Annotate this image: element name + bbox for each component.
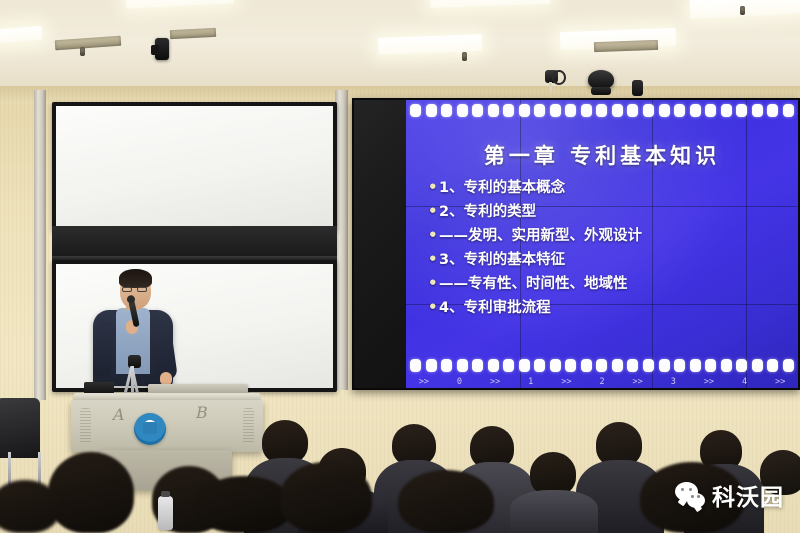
podium-grille-left (80, 408, 91, 444)
sprocket-hole (659, 104, 670, 117)
chair (0, 398, 40, 458)
ceiling-light-panel (378, 34, 483, 55)
slide-bullet-text: 2、专利的类型 (439, 205, 536, 220)
slide-bullet-list: • 1、专利的基本概念 • 2、专利的类型 • ——发明、实用新型、外观设计 •… (428, 180, 790, 324)
slide-bullet-text: 1、专利的基本概念 (439, 181, 565, 196)
speaker-glasses-icon (122, 287, 147, 292)
wall-speaker-icon (632, 80, 643, 96)
sprocket-hole (674, 104, 685, 117)
presentation-slide[interactable]: 第一章 专利基本知识 • 1、专利的基本概念 • 2、专利的类型 • ——发明、… (406, 100, 798, 388)
sprocket-hole (581, 359, 592, 372)
slide-bullet: • 4、专利审批流程 (428, 300, 790, 316)
sprocket-hole (550, 104, 561, 117)
footer-mark: 0 (442, 377, 478, 387)
sprocket-hole (534, 104, 545, 117)
sprocket-hole (410, 104, 421, 117)
ceiling-sprinkler (80, 47, 85, 56)
sprocket-hole (581, 104, 592, 117)
ceiling-light-panel (430, 0, 551, 8)
slide-bullet-text: 3、专利的基本特征 (439, 253, 565, 268)
slide-bullet: • ——发明、实用新型、外观设计 (428, 228, 790, 244)
speaker-hair (119, 269, 152, 288)
sprocket-hole (596, 104, 607, 117)
whiteboard-surface-upper (56, 106, 333, 226)
ceiling-light-panel (126, 0, 235, 9)
podium-grille-right (243, 408, 254, 444)
sprocket-hole (441, 359, 452, 372)
sprocket-hole (426, 359, 437, 372)
slide-bullet-text: ——发明、实用新型、外观设计 (439, 229, 642, 244)
ceiling-vent (55, 36, 122, 51)
slide-bullet: • 1、专利的基本概念 (428, 180, 790, 196)
footer-mark: 3 (655, 377, 691, 387)
sprocket-hole (767, 104, 778, 117)
bullet-marker: • (428, 252, 439, 267)
filmstrip-sprockets-bottom (406, 357, 798, 373)
wechat-logo-icon (675, 482, 705, 508)
audience-head-foreground (280, 462, 372, 533)
sprocket-hole (752, 104, 763, 117)
slide-title: 第一章 专利基本知识 (406, 140, 798, 170)
sprocket-hole (690, 104, 701, 117)
footer-mark: >> (406, 377, 442, 387)
audience-head-foreground (0, 480, 60, 533)
podium-label-a: A (113, 405, 125, 424)
filmstrip-footer: >> 0 >> 1 >> 2 >> 3 >> 4 >> (406, 375, 798, 388)
sprocket-hole (627, 359, 638, 372)
watermark: 科沃园 (675, 478, 784, 512)
slide-bullet: • 2、专利的类型 (428, 204, 790, 220)
slide-bullet-text: 4、专利审批流程 (439, 301, 551, 316)
bullet-marker: • (428, 228, 439, 243)
sprocket-hole (426, 104, 437, 117)
ceiling-sprinkler (462, 52, 467, 61)
sprocket-hole (612, 359, 623, 372)
podium (71, 400, 263, 452)
footer-mark: 2 (584, 377, 620, 387)
sprocket-hole (472, 104, 483, 117)
footer-mark: 1 (513, 377, 549, 387)
bullet-marker: • (428, 300, 439, 315)
sprocket-hole (690, 359, 701, 372)
sprocket-hole (643, 359, 654, 372)
sprocket-hole (767, 359, 778, 372)
sprocket-hole (488, 104, 499, 117)
ceiling-sprinkler (740, 6, 745, 15)
sprocket-hole (643, 104, 654, 117)
ceiling-light-panel (0, 26, 43, 44)
sprocket-hole (519, 359, 530, 372)
footer-mark: >> (691, 377, 727, 387)
video-wall-dark-panels (354, 100, 406, 388)
sprocket-hole (441, 104, 452, 117)
audience-shoulders (510, 490, 598, 533)
watermark-text: 科沃园 (712, 478, 784, 512)
sprocket-hole (565, 359, 576, 372)
whiteboard-divider (52, 226, 337, 258)
footer-mark: >> (549, 377, 585, 387)
sprocket-hole (659, 359, 670, 372)
ptz-camera-icon (588, 70, 614, 89)
mic-mount (549, 82, 552, 92)
audience-head-foreground (48, 452, 134, 533)
sprocket-hole (410, 359, 421, 372)
ceiling (0, 0, 800, 96)
wechat-eye (691, 495, 694, 498)
footer-mark: >> (620, 377, 656, 387)
podium-label-b: B (196, 403, 208, 422)
sprocket-hole (488, 359, 499, 372)
sprocket-hole (752, 359, 763, 372)
footer-mark: >> (762, 377, 798, 387)
sprocket-hole (457, 104, 468, 117)
sprocket-hole (596, 359, 607, 372)
wechat-eye (697, 495, 700, 498)
sprocket-hole (503, 104, 514, 117)
water-bottle (158, 496, 173, 530)
bullet-marker: • (428, 276, 439, 291)
sprocket-hole (705, 359, 716, 372)
slide-bullet: • 3、专利的基本特征 (428, 252, 790, 268)
sprocket-hole (736, 359, 747, 372)
sprocket-hole (534, 359, 545, 372)
wall-pillar-left (34, 90, 46, 400)
ceiling-vent (594, 40, 658, 52)
sprocket-hole (519, 104, 530, 117)
wechat-bubble-small (687, 493, 705, 508)
sprocket-hole (565, 104, 576, 117)
sprocket-hole (721, 104, 732, 117)
sprocket-hole (550, 359, 561, 372)
sprocket-hole (783, 359, 794, 372)
audience-head-foreground (196, 476, 292, 533)
sprocket-hole (721, 359, 732, 372)
slide-bullet: • ——专有性、时间性、地域性 (428, 276, 790, 292)
filmstrip-sprockets-top (406, 102, 798, 118)
sprocket-hole (783, 104, 794, 117)
footer-mark: >> (477, 377, 513, 387)
lecture-hall-photo: 第一章 专利基本知识 • 1、专利的基本概念 • 2、专利的类型 • ——发明、… (0, 0, 800, 533)
bullet-marker: • (428, 180, 439, 195)
university-emblem-icon (134, 413, 166, 445)
footer-mark: 4 (727, 377, 763, 387)
sprocket-hole (627, 104, 638, 117)
sprocket-hole (503, 359, 514, 372)
bullet-marker: • (428, 204, 439, 219)
slide-bullet-text: ——专有性、时间性、地域性 (439, 277, 628, 292)
audience-head-foreground (398, 470, 494, 533)
sprocket-hole (612, 104, 623, 117)
sprocket-hole (457, 359, 468, 372)
sprocket-hole (705, 104, 716, 117)
sprocket-hole (674, 359, 685, 372)
sprocket-hole (736, 104, 747, 117)
ceiling-vent (170, 28, 216, 39)
ceiling-camera (155, 38, 169, 60)
sprocket-hole (472, 359, 483, 372)
